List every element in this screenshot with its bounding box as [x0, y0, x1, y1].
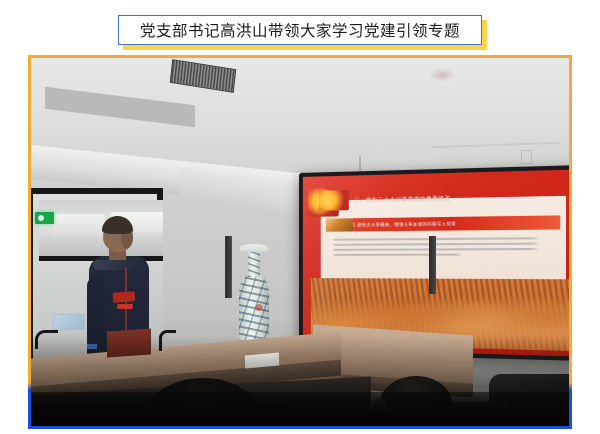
exit-sign-icon	[35, 212, 54, 224]
tv-stand-leg-left	[225, 236, 232, 298]
table-microphone-left	[35, 330, 58, 349]
table-microphone-center	[159, 330, 176, 351]
page-title: 党支部书记高洪山带领大家学习党建引领专题	[140, 19, 460, 41]
meeting-room-photo: 二、党的二十大对党章做的重要修改 1.把伟大斗争精神、增强斗争本领的内容写入党章	[31, 58, 569, 426]
vase-accent-mark	[255, 304, 263, 311]
wall-socket	[521, 150, 532, 164]
caption-box: 党支部书记高洪山带领大家学习党建引领专题	[118, 15, 482, 45]
presenter-badge-secondary	[117, 304, 133, 309]
tv-stand-leg-right	[429, 236, 436, 294]
presenter-shoulder-highlight	[93, 260, 139, 270]
presenter-badge	[113, 291, 136, 303]
caption-banner: 党支部书记高洪山带领大家学习党建引领专题	[118, 15, 482, 45]
vase-neck-pattern	[248, 251, 260, 277]
table-object-pen	[87, 344, 97, 349]
wall-stain	[429, 68, 455, 82]
vase-mouth	[240, 244, 268, 252]
door-poster	[53, 314, 85, 330]
photo-frame: 二、党的二十大对党章做的重要修改 1.把伟大斗争精神、增强斗争本领的内容写入党章	[28, 55, 572, 429]
foreground-shadow-band	[31, 392, 569, 426]
presenter-hair	[102, 216, 133, 234]
table-object-folder	[107, 328, 151, 357]
